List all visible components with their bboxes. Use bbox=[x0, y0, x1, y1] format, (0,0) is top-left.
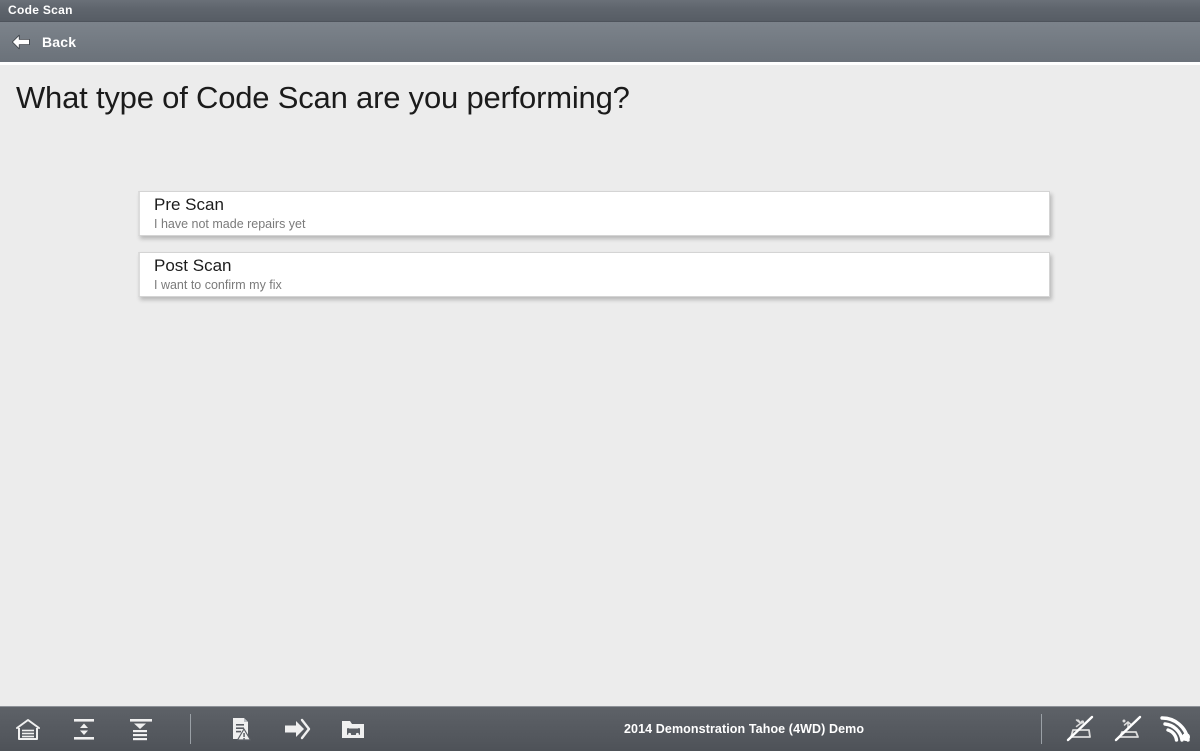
option-title: Pre Scan bbox=[154, 195, 224, 215]
back-button-label: Back bbox=[42, 34, 76, 50]
vehicle-info-label: 2014 Demonstration Tahoe (4WD) Demo bbox=[624, 707, 864, 751]
expand-all-icon[interactable] bbox=[56, 707, 112, 751]
window-title: Code Scan bbox=[8, 3, 73, 17]
garage-home-icon[interactable] bbox=[0, 707, 56, 751]
navigation-bar: Back bbox=[0, 22, 1200, 65]
vehicle-folder-icon[interactable] bbox=[325, 707, 381, 751]
option-subtitle: I want to confirm my fix bbox=[154, 278, 282, 292]
option-title: Post Scan bbox=[154, 256, 232, 276]
collapse-all-icon[interactable] bbox=[112, 707, 168, 751]
footer-left-icon-group bbox=[0, 707, 381, 751]
footer-toolbar: 2014 Demonstration Tahoe (4WD) Demo bbox=[0, 706, 1200, 751]
usb-disconnected-icon[interactable] bbox=[1104, 707, 1152, 751]
scan-type-option-list: Pre Scan I have not made repairs yet Pos… bbox=[138, 191, 1050, 313]
data-report-warning-icon[interactable] bbox=[213, 707, 269, 751]
footer-right-divider bbox=[1041, 714, 1042, 744]
bluetooth-disconnected-icon[interactable] bbox=[1056, 707, 1104, 751]
arrow-left-icon bbox=[10, 32, 32, 52]
footer-status-icon-group bbox=[1041, 707, 1200, 751]
option-post-scan[interactable]: Post Scan I want to confirm my fix bbox=[138, 252, 1050, 297]
option-pre-scan[interactable]: Pre Scan I have not made repairs yet bbox=[138, 191, 1050, 236]
back-button[interactable]: Back bbox=[0, 22, 90, 62]
exit-arrow-icon[interactable] bbox=[269, 707, 325, 751]
wifi-signal-icon[interactable] bbox=[1152, 707, 1200, 751]
option-subtitle: I have not made repairs yet bbox=[154, 217, 305, 231]
window-titlebar: Code Scan bbox=[0, 0, 1200, 22]
footer-divider bbox=[190, 714, 191, 744]
code-scan-app: Code Scan Back What type of Code Scan ar… bbox=[0, 0, 1200, 750]
main-content: What type of Code Scan are you performin… bbox=[0, 68, 1200, 706]
page-title: What type of Code Scan are you performin… bbox=[16, 80, 630, 116]
